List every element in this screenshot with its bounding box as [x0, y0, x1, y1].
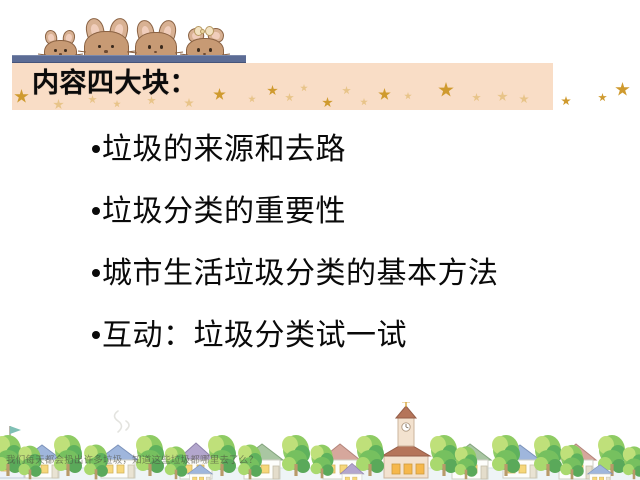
star-icon [598, 93, 607, 102]
bullet-dot-icon [92, 207, 100, 215]
bullet-text: 城市生活垃圾分类的基本方法 [102, 257, 499, 291]
bullet-list: 垃圾的来源和去路 垃圾分类的重要性 城市生活垃圾分类的基本方法 互动：垃圾分类试… [92, 133, 622, 381]
list-item: 互动：垃圾分类试一试 [92, 319, 622, 381]
village-border-illustration [0, 402, 640, 480]
star-icon [561, 96, 571, 106]
bullet-dot-icon [92, 269, 100, 277]
list-item: 垃圾分类的重要性 [92, 195, 622, 257]
bullet-text: 垃圾的来源和去路 [102, 133, 346, 167]
bullet-dot-icon [92, 145, 100, 153]
shelf-bar [12, 55, 246, 63]
bullet-text: 互动：垃圾分类试一试 [102, 319, 407, 353]
list-item: 城市生活垃圾分类的基本方法 [92, 257, 622, 319]
page-title: 内容四大块： [32, 64, 197, 104]
bullet-dot-icon [92, 331, 100, 339]
bullet-text: 垃圾分类的重要性 [102, 195, 346, 229]
footer-caption: 我们每天都会扔出许多垃圾，知道这些垃圾都哪里去了么？ [6, 455, 436, 466]
star-icon [615, 82, 630, 97]
slide-canvas: 内容四大块： 垃圾的来源和去路 垃圾分类的重要性 城市生活垃圾分类的基本方法 互… [0, 0, 640, 480]
list-item: 垃圾的来源和去路 [92, 133, 622, 195]
